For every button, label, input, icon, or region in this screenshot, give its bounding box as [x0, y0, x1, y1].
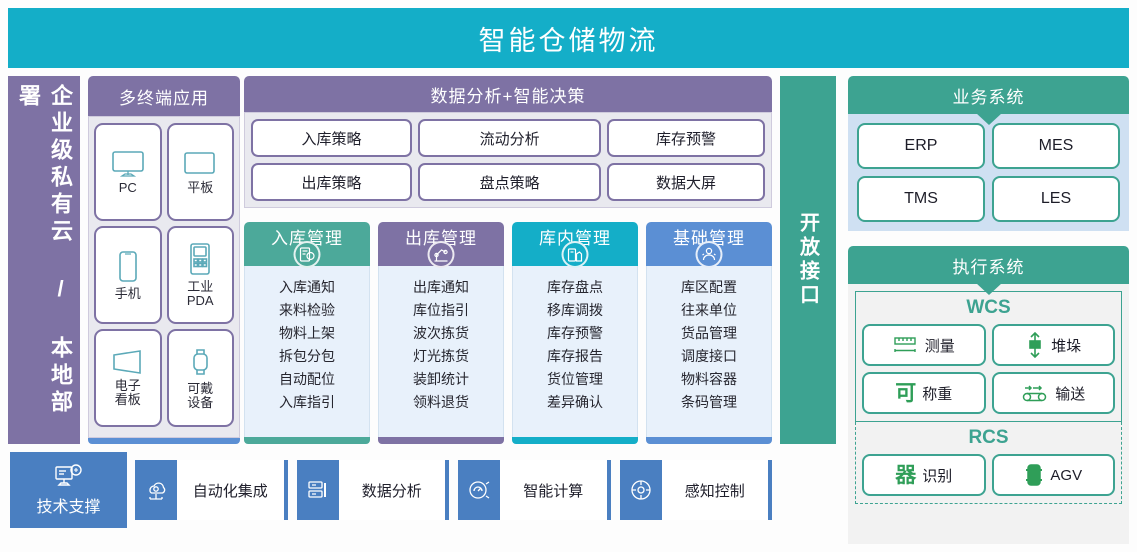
agv-icon	[1024, 462, 1044, 488]
management-item-3-2[interactable]: 货品管理	[681, 323, 737, 344]
tech-support-tag: 技术支撑	[10, 452, 127, 528]
tech-support-label: 技术支撑	[36, 493, 100, 517]
wcs-item-0[interactable]: 测量	[862, 324, 986, 366]
management-columns: 入库管理入库通知来料检验物料上架拆包分包自动配位入库指引出库管理出库通知库位指引…	[244, 222, 772, 444]
management-item-2-5[interactable]: 差异确认	[547, 392, 603, 413]
management-item-1-5[interactable]: 领料退货	[413, 392, 469, 413]
rcs-item-1[interactable]: AGV	[992, 454, 1116, 496]
smartwatch-icon	[187, 346, 214, 379]
support-item-label: 智能计算	[500, 460, 607, 520]
device-card-1[interactable]: 平板	[167, 123, 235, 221]
warehouse-icon	[562, 241, 589, 268]
device-card-5[interactable]: 可戴设备	[167, 329, 235, 427]
management-item-3-3[interactable]: 调度接口	[681, 346, 737, 367]
management-item-list: 出库通知库位指引波次拣货灯光拣货装卸统计领料退货	[378, 266, 504, 437]
device-card-4[interactable]: 电子看板	[94, 329, 162, 427]
management-item-3-1[interactable]: 往来单位	[681, 300, 737, 321]
analysis-panel: 数据分析+智能决策 入库策略流动分析库存预警出库策略盘点策略数据大屏	[244, 76, 772, 208]
robot-arm-icon	[428, 241, 455, 268]
support-item-2[interactable]: 智能计算	[458, 460, 611, 520]
analysis-button-2[interactable]: 库存预警	[607, 119, 765, 157]
wcs-item-1[interactable]: 堆垛	[992, 324, 1116, 366]
business-system-item-1[interactable]: MES	[992, 123, 1120, 169]
device-label: 平板	[187, 181, 213, 195]
management-item-3-4[interactable]: 物料容器	[681, 369, 737, 390]
management-item-0-3[interactable]: 拆包分包	[279, 346, 335, 367]
infographic-root: 智能仓储物流 企业级私有云 / 本地部署 多终端应用 PC平板手机工业PDA电子…	[0, 0, 1137, 552]
business-system-grid: ERPMESTMSLES	[848, 114, 1129, 231]
analysis-button-3[interactable]: 出库策略	[251, 163, 412, 201]
terminal-accent-bar	[88, 438, 240, 444]
exec-item-label: AGV	[1050, 467, 1082, 484]
business-system-item-0[interactable]: ERP	[857, 123, 985, 169]
wcs-box: WCS 测量堆垛可称重输送	[855, 291, 1122, 422]
server-icon	[297, 460, 339, 520]
device-card-2[interactable]: 手机	[94, 226, 162, 324]
display-board-icon	[111, 349, 144, 376]
recognition-icon: 器	[895, 465, 916, 486]
management-accent-bar	[512, 437, 638, 444]
inbound-icon	[294, 241, 321, 268]
business-system-title: 业务系统	[848, 76, 1129, 114]
sensor-icon	[620, 460, 662, 520]
analysis-button-4[interactable]: 盘点策略	[418, 163, 601, 201]
execution-system-body: WCS 测量堆垛可称重输送 RCS 器识别AGV	[848, 284, 1129, 544]
management-column-0: 入库管理入库通知来料检验物料上架拆包分包自动配位入库指引	[244, 222, 370, 444]
wcs-title: WCS	[862, 297, 1115, 319]
management-item-0-2[interactable]: 物料上架	[279, 323, 335, 344]
management-item-0-1[interactable]: 来料检验	[279, 300, 335, 321]
wcs-grid: 测量堆垛可称重输送	[862, 324, 1115, 414]
management-column-1: 出库管理出库通知库位指引波次拣货灯光拣货装卸统计领料退货	[378, 222, 504, 444]
scale-icon: 可	[895, 383, 916, 404]
management-item-1-3[interactable]: 灯光拣货	[413, 346, 469, 367]
execution-system-panel: 执行系统 WCS 测量堆垛可称重输送 RCS 器识别AGV	[848, 246, 1129, 544]
cloud-network-icon	[135, 460, 177, 520]
management-item-3-0[interactable]: 库区配置	[681, 277, 737, 298]
management-item-list: 库存盘点移库调拨库存预警库存报告货位管理差异确认	[512, 266, 638, 437]
phone-icon	[114, 250, 142, 284]
management-column-2: 库内管理库存盘点移库调拨库存预警库存报告货位管理差异确认	[512, 222, 638, 444]
device-card-3[interactable]: 工业PDA	[167, 226, 235, 324]
support-item-1[interactable]: 数据分析	[297, 460, 450, 520]
cpu-gauge-icon	[458, 460, 500, 520]
analysis-button-grid: 入库策略流动分析库存预警出库策略盘点策略数据大屏	[244, 112, 772, 208]
device-label: 工业PDA	[187, 280, 214, 307]
exec-item-label: 识别	[922, 465, 952, 486]
rcs-box: RCS 器识别AGV	[855, 422, 1122, 504]
exec-item-label: 输送	[1055, 383, 1085, 404]
management-item-list: 库区配置往来单位货品管理调度接口物料容器条码管理	[646, 266, 772, 437]
management-item-0-4[interactable]: 自动配位	[279, 369, 335, 390]
analysis-button-1[interactable]: 流动分析	[418, 119, 601, 157]
multi-terminal-title: 多终端应用	[88, 76, 240, 116]
analysis-button-5[interactable]: 数据大屏	[607, 163, 765, 201]
analysis-title: 数据分析+智能决策	[244, 76, 772, 112]
exec-item-label: 称重	[922, 383, 952, 404]
stacker-icon	[1025, 332, 1045, 358]
execution-system-title: 执行系统	[848, 246, 1129, 284]
multi-terminal-panel: 多终端应用 PC平板手机工业PDA电子看板可戴设备	[88, 76, 240, 444]
monitor-icon	[111, 150, 145, 178]
management-item-list: 入库通知来料检验物料上架拆包分包自动配位入库指引	[244, 266, 370, 437]
support-item-label: 感知控制	[662, 460, 769, 520]
rcs-grid: 器识别AGV	[862, 454, 1115, 496]
rcs-item-0[interactable]: 器识别	[862, 454, 986, 496]
business-system-item-2[interactable]: TMS	[857, 176, 985, 222]
management-column-title: 基础管理	[646, 222, 772, 266]
wcs-item-3[interactable]: 输送	[992, 372, 1116, 414]
device-card-grid: PC平板手机工业PDA电子看板可戴设备	[88, 116, 240, 438]
management-item-1-1[interactable]: 库位指引	[413, 300, 469, 321]
support-item-label: 数据分析	[339, 460, 446, 520]
management-item-2-1[interactable]: 移库调拨	[547, 300, 603, 321]
tech-support-icon	[54, 464, 84, 490]
management-accent-bar	[646, 437, 772, 444]
management-item-2-2[interactable]: 库存预警	[547, 323, 603, 344]
management-column-title: 入库管理	[244, 222, 370, 266]
support-item-0[interactable]: 自动化集成	[135, 460, 288, 520]
management-item-2-4[interactable]: 货位管理	[547, 369, 603, 390]
management-column-title: 库内管理	[512, 222, 638, 266]
management-item-2-0[interactable]: 库存盘点	[547, 277, 603, 298]
management-item-0-0[interactable]: 入库通知	[279, 277, 335, 298]
management-item-1-2[interactable]: 波次拣货	[413, 323, 469, 344]
management-column-title: 出库管理	[378, 222, 504, 266]
analysis-button-0[interactable]: 入库策略	[251, 119, 412, 157]
support-item-label: 自动化集成	[177, 460, 284, 520]
device-label: 可戴设备	[187, 382, 213, 409]
exec-item-label: 堆垛	[1051, 335, 1081, 356]
wcs-item-2[interactable]: 可称重	[862, 372, 986, 414]
management-item-0-5[interactable]: 入库指引	[279, 392, 335, 413]
settings-people-icon	[696, 241, 723, 268]
business-system-item-3[interactable]: LES	[992, 176, 1120, 222]
open-interface-bar: 开放接口	[780, 76, 836, 444]
management-item-3-5[interactable]: 条码管理	[681, 392, 737, 413]
management-accent-bar	[244, 437, 370, 444]
management-item-2-3[interactable]: 库存报告	[547, 346, 603, 367]
device-label: 手机	[115, 287, 141, 301]
page-title: 智能仓储物流	[8, 8, 1129, 68]
business-system-panel: 业务系统 ERPMESTMSLES	[848, 76, 1129, 231]
private-cloud-bar: 企业级私有云 / 本地部署	[8, 76, 80, 444]
device-label: 电子看板	[115, 379, 141, 406]
management-column-3: 基础管理库区配置往来单位货品管理调度接口物料容器条码管理	[646, 222, 772, 444]
management-item-1-0[interactable]: 出库通知	[413, 277, 469, 298]
device-label: PC	[119, 181, 137, 195]
tablet-icon	[183, 150, 217, 178]
conveyor-icon	[1021, 383, 1049, 403]
ruler-icon	[893, 336, 919, 354]
management-item-1-4[interactable]: 装卸统计	[413, 369, 469, 390]
management-accent-bar	[378, 437, 504, 444]
support-item-3[interactable]: 感知控制	[620, 460, 773, 520]
support-items: 自动化集成数据分析智能计算感知控制	[135, 460, 772, 520]
pda-icon	[187, 242, 214, 277]
exec-item-label: 测量	[925, 335, 955, 356]
device-card-0[interactable]: PC	[94, 123, 162, 221]
rcs-title: RCS	[862, 427, 1115, 449]
